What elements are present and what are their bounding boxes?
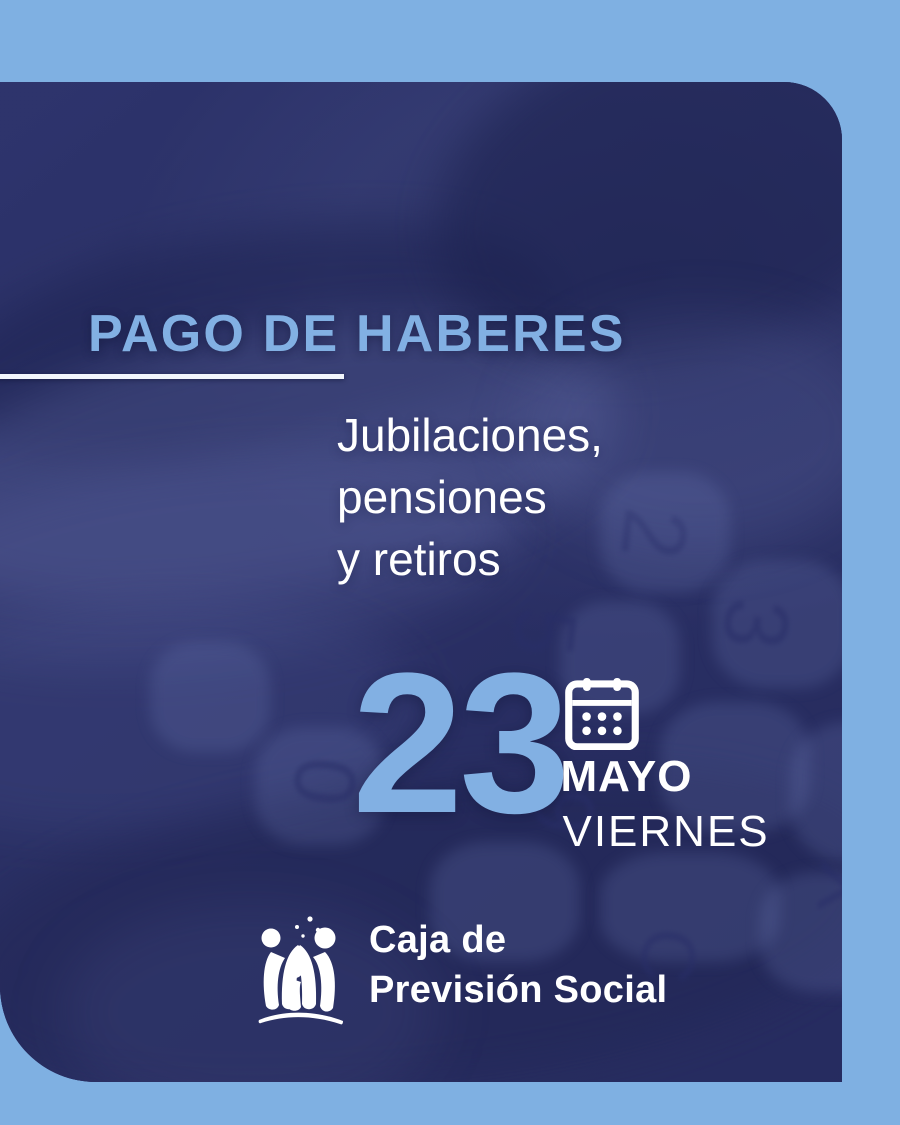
calculator-key-digit: 3 xyxy=(701,593,809,654)
calculator-key xyxy=(150,642,270,752)
subtitle: Jubilaciones, pensiones y retiros xyxy=(337,404,603,590)
weekday-label: VIERNES xyxy=(562,806,769,858)
subtitle-line-1: Jubilaciones, xyxy=(337,404,603,466)
date-right-column: MAYO VIERNES xyxy=(560,676,769,858)
poster-canvas: 2 3 5 0 9 X C PAGO DE HABERES Jubilacion… xyxy=(0,0,900,1125)
logo-line-1: Caja de xyxy=(369,915,667,965)
logo-wordmark: Caja de Previsión Social xyxy=(369,915,667,1015)
subtitle-line-2: pensiones xyxy=(337,466,603,528)
title-divider xyxy=(0,374,344,379)
organization-logo: Caja de Previsión Social xyxy=(253,900,667,1030)
calendar-icon xyxy=(564,676,640,750)
family-figures-icon xyxy=(253,900,349,1030)
page-title: PAGO DE HABERES xyxy=(88,304,626,364)
subtitle-line-3: y retiros xyxy=(337,528,603,590)
navy-content-panel: 2 3 5 0 9 X C PAGO DE HABERES Jubilacion… xyxy=(0,82,842,1082)
calculator-key-digit: X xyxy=(798,857,842,920)
logo-line-2: Previsión Social xyxy=(369,965,667,1015)
day-number: 23 xyxy=(352,660,566,828)
month-label: MAYO xyxy=(560,752,692,802)
payment-date-block: 23 MAYO VIERNES xyxy=(352,660,770,858)
